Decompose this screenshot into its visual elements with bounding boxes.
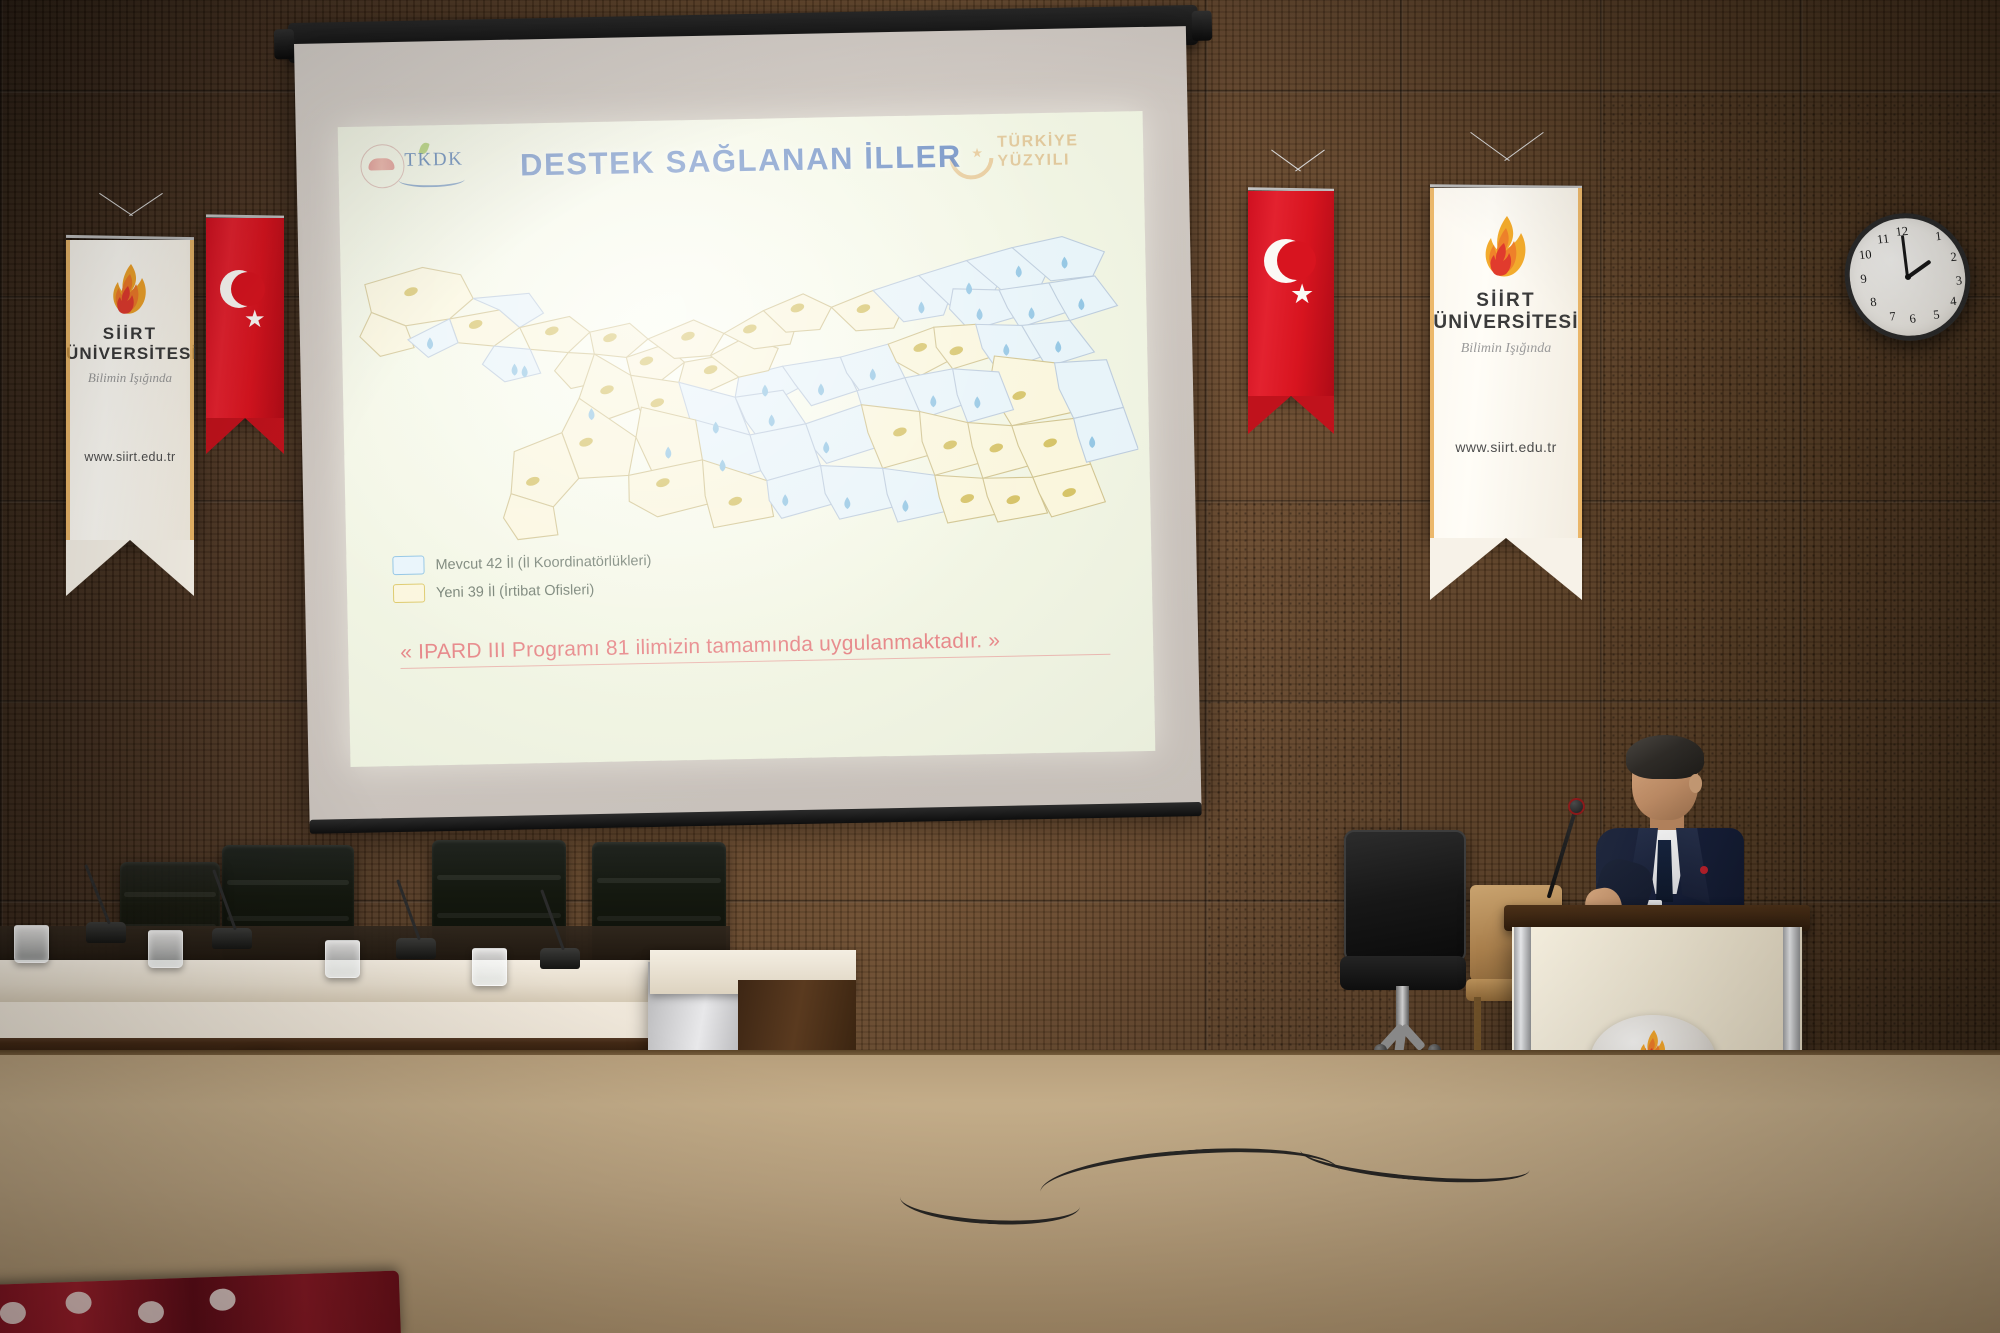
- presentation-slide: TKDK ★ TÜRKİYE YÜZYILI DESTEK SAĞLANAN İ…: [338, 111, 1156, 767]
- map-legend: Mevcut 42 İl (İl Koordinatörlükleri) Yen…: [392, 551, 652, 612]
- lapel-pin: [1700, 866, 1708, 874]
- clock-numeral: 10: [1856, 247, 1874, 263]
- chair-backrest: [1344, 830, 1466, 962]
- turkish-flag-banner-left: ★: [206, 218, 284, 418]
- banner-title-line1: SİİRT: [1430, 290, 1582, 312]
- water-glass[interactable]: [325, 940, 360, 978]
- clock-numeral: 3: [1950, 273, 1968, 289]
- flag-tail: [1248, 396, 1334, 434]
- siirt-banner-right: SİİRT ÜNİVERSİTESİ Bilimin Işığında www.…: [1430, 188, 1582, 538]
- legend-swatch-blue: [392, 555, 424, 575]
- microphone-base[interactable]: [86, 922, 126, 943]
- banner-edge: [1578, 188, 1582, 538]
- legend-label-mevcut: Mevcut 42 İl (İl Koordinatörlükleri): [435, 552, 651, 572]
- necktie: [1656, 840, 1673, 902]
- banner-slogan: Bilimin Işığında: [66, 370, 194, 386]
- clock-numeral: 2: [1945, 249, 1963, 265]
- clock-numeral: 4: [1944, 293, 1962, 309]
- banner-edge: [66, 240, 70, 540]
- clock-numeral: 7: [1884, 309, 1902, 325]
- ear: [1689, 774, 1702, 793]
- banner-title-line2: ÜNİVERSİTESİ: [1430, 312, 1582, 334]
- flame-logo-icon: [1477, 214, 1535, 284]
- carpet-pattern: [0, 1302, 26, 1325]
- legend-swatch-yellow: [393, 583, 425, 603]
- star-icon: ★: [1290, 281, 1314, 308]
- banner-edge: [1430, 188, 1434, 538]
- clock-minute-hand: [1901, 235, 1909, 277]
- microphone-base[interactable]: [212, 928, 252, 949]
- banner-tail: [1430, 538, 1582, 600]
- legend-label-yeni: Yeni 39 İl (İrtibat Ofisleri): [436, 582, 595, 601]
- turkey-province-map: .pb{fill:#e8f4fb;stroke:#b9c9dd;stroke-w…: [351, 201, 1139, 547]
- projection-screen: TKDK ★ TÜRKİYE YÜZYILI DESTEK SAĞLANAN İ…: [294, 26, 1201, 824]
- banner-edge: [190, 240, 194, 540]
- star-icon: ★: [244, 308, 266, 332]
- water-glass[interactable]: [14, 925, 49, 963]
- clock-numeral: 6: [1904, 311, 1922, 327]
- handheld-microphone-head[interactable]: [1568, 798, 1585, 815]
- banner-slogan: Bilimin Işığında: [1430, 341, 1582, 357]
- banner-tail: [66, 540, 194, 596]
- banner-title-line2: ÜNİVERSİTESİ: [66, 344, 194, 364]
- hair: [1626, 735, 1704, 779]
- clock-numeral: 1: [1930, 229, 1948, 245]
- conference-hall-scene: TKDK ★ TÜRKİYE YÜZYILI DESTEK SAĞLANAN İ…: [0, 0, 2000, 1333]
- water-glass[interactable]: [148, 930, 183, 968]
- flame-logo-icon: [106, 262, 154, 320]
- executive-chair[interactable]: [1340, 830, 1466, 1050]
- clock-numeral: 11: [1874, 231, 1892, 247]
- carpet-pattern: [138, 1301, 165, 1324]
- banner-url: www.siirt.edu.tr: [66, 450, 194, 464]
- legend-item-yeni: Yeni 39 İl (İrtibat Ofisleri): [393, 579, 652, 603]
- microphone-base[interactable]: [396, 938, 436, 959]
- water-glass[interactable]: [472, 948, 507, 986]
- clock-center-pin: [1904, 274, 1911, 280]
- carpet-pattern: [209, 1288, 236, 1311]
- carpet-pattern: [65, 1291, 92, 1314]
- crescent-cut: [1277, 241, 1316, 280]
- crescent-cut: [231, 272, 265, 306]
- slide-footer-quote: « IPARD III Programı 81 ilimizin tamamın…: [400, 627, 1110, 669]
- siirt-banner-left: SİİRT ÜNİVERSİTESİ Bilimin Işığında www.…: [66, 240, 194, 540]
- table-top: [0, 960, 730, 1004]
- microphone-base[interactable]: [540, 948, 580, 969]
- clock-numeral: 5: [1928, 307, 1946, 323]
- turkish-flag-banner-right: ★: [1248, 191, 1334, 396]
- banner-url: www.siirt.edu.tr: [1430, 439, 1582, 455]
- chair-leg: [1474, 997, 1481, 1055]
- chair-seat: [1340, 956, 1466, 990]
- clock-numeral: 8: [1865, 294, 1883, 310]
- banner-title-line1: SİİRT: [66, 324, 194, 344]
- legend-item-mevcut: Mevcut 42 İl (İl Koordinatörlükleri): [392, 551, 651, 575]
- clock-numeral: 9: [1855, 271, 1873, 287]
- flag-tail: [206, 418, 284, 454]
